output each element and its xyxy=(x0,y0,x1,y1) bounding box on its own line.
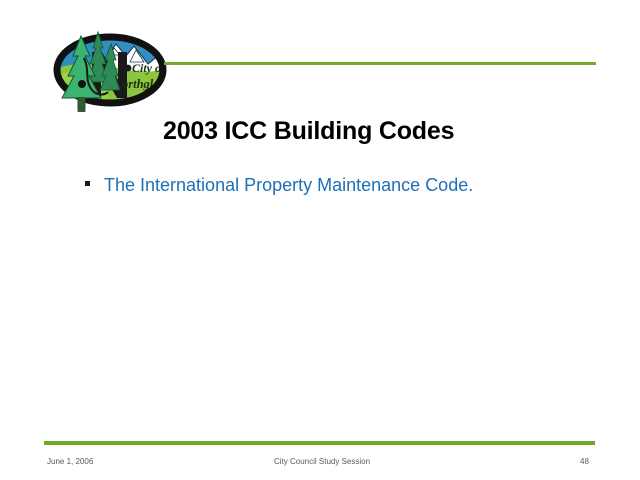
footer-divider-line xyxy=(44,441,595,445)
footer-date: June 1, 2006 xyxy=(47,457,93,467)
footer-event-title: City Council Study Session xyxy=(274,457,370,467)
slide-title: 2003 ICC Building Codes xyxy=(163,116,583,146)
footer-page-number: 48 xyxy=(580,457,589,467)
slide-body-list: The International Property Maintenance C… xyxy=(84,172,604,198)
logo-swoosh-dot xyxy=(78,80,86,88)
square-bullet-icon xyxy=(85,181,90,186)
list-item: The International Property Maintenance C… xyxy=(84,172,604,198)
header-divider-line xyxy=(164,62,596,65)
city-of-northglenn-logo: City of orthglenn xyxy=(48,18,170,116)
slide-canvas: City of orthglenn 2003 I xyxy=(0,0,640,480)
logo-dot-accent xyxy=(125,65,132,72)
list-item-label: The International Property Maintenance C… xyxy=(104,175,473,195)
